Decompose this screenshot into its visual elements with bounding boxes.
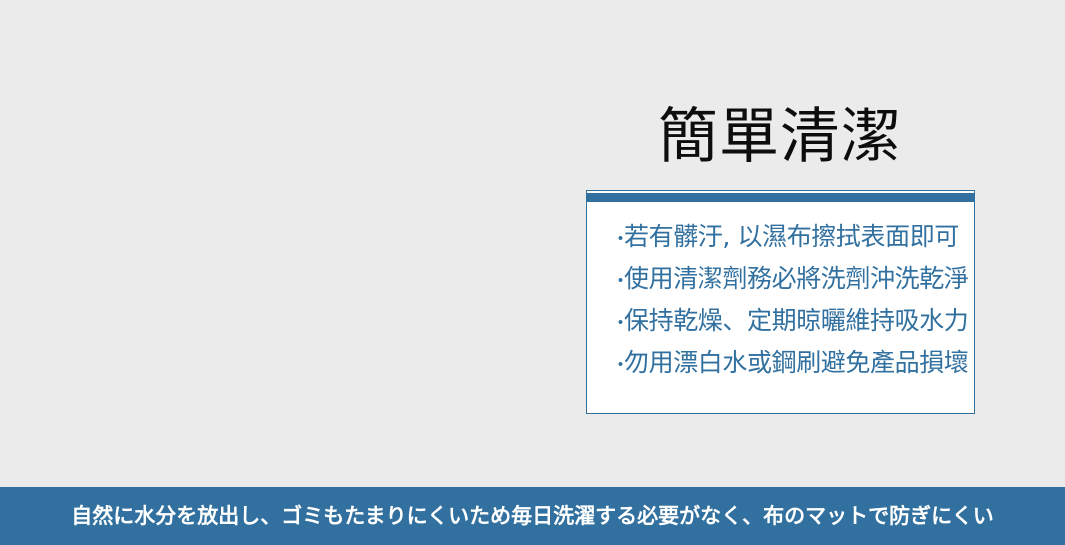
bullet-point-icon: ・ (611, 345, 624, 385)
product-care-slide: 簡單清潔 ・ 若有髒汙, 以濕布擦拭表面即可 ・ 使用清潔劑務必將洗劑沖洗乾淨 … (0, 0, 1065, 545)
bullet-point-icon: ・ (611, 219, 624, 259)
care-instructions-list: ・ 若有髒汙, 以濕布擦拭表面即可 ・ 使用清潔劑務必將洗劑沖洗乾淨 ・ 保持乾… (587, 202, 974, 413)
product-image-area (0, 0, 580, 487)
list-item: ・ 若有髒汙, 以濕布擦拭表面即可 (611, 217, 964, 259)
list-item: ・ 使用清潔劑務必將洗劑沖洗乾淨 (611, 259, 964, 301)
card-accent-bar (587, 193, 974, 202)
list-item-label: 保持乾燥、定期晾曬維持吸水力 (624, 301, 968, 341)
bottom-banner-text: 自然に水分を放出し、ゴミもたまりにくいため毎日洗濯する必要がなく、布のマットで防… (71, 501, 994, 531)
list-item-label: 勿用漂白水或鋼刷避免產品損壞 (624, 343, 968, 383)
care-instructions-card: ・ 若有髒汙, 以濕布擦拭表面即可 ・ 使用清潔劑務必將洗劑沖洗乾淨 ・ 保持乾… (586, 190, 975, 414)
bullet-point-icon: ・ (611, 303, 624, 343)
list-item: ・ 保持乾燥、定期晾曬維持吸水力 (611, 301, 964, 343)
bottom-banner: 自然に水分を放出し、ゴミもたまりにくいため毎日洗濯する必要がなく、布のマットで防… (0, 487, 1065, 545)
list-item-label: 使用清潔劑務必將洗劑沖洗乾淨 (624, 259, 968, 299)
list-item: ・ 勿用漂白水或鋼刷避免產品損壞 (611, 343, 964, 385)
list-item-label: 若有髒汙, 以濕布擦拭表面即可 (624, 217, 959, 257)
bullet-point-icon: ・ (611, 261, 624, 301)
page-title: 簡單清潔 (585, 100, 975, 174)
